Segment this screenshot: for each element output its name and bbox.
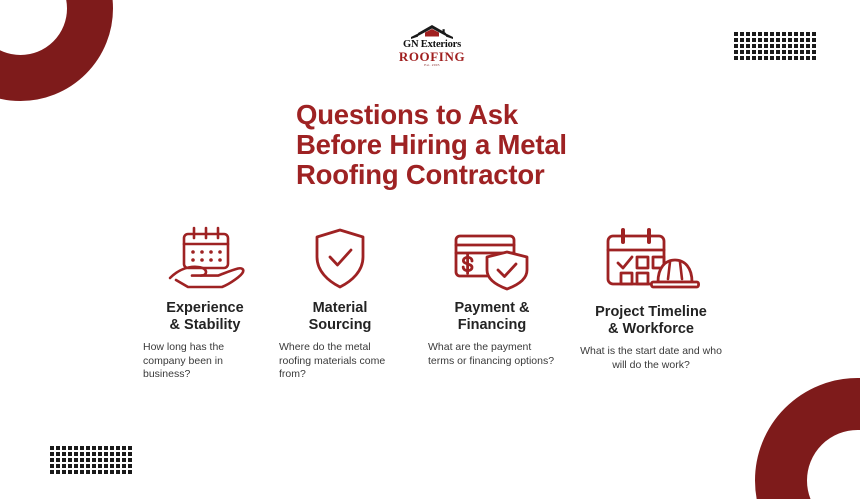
dot [68, 446, 72, 450]
dot [80, 446, 84, 450]
dot [788, 50, 792, 54]
dot [86, 446, 90, 450]
dot [800, 56, 804, 60]
icon-container [578, 220, 724, 292]
dot [788, 32, 792, 36]
dot-grid-bottom-left [50, 446, 132, 474]
dot [752, 50, 756, 54]
dot [56, 452, 60, 456]
dot [812, 44, 816, 48]
dot [128, 464, 132, 468]
dot [86, 470, 90, 474]
dot [98, 464, 102, 468]
calendar-hardhat-icon [601, 226, 701, 292]
dot [806, 56, 810, 60]
dot [98, 470, 102, 474]
dot [56, 458, 60, 462]
column-heading: Project Timeline & Workforce [578, 304, 724, 338]
dot [794, 50, 798, 54]
dot [800, 32, 804, 36]
column-body-text: Where do the metal roofing materials com… [279, 341, 401, 382]
dot [128, 452, 132, 456]
dot [740, 32, 744, 36]
dot [62, 452, 66, 456]
column-heading: Material Sourcing [279, 300, 401, 334]
icon-container [143, 220, 267, 292]
dot [740, 38, 744, 42]
dot [764, 56, 768, 60]
dot [92, 470, 96, 474]
dot [122, 452, 126, 456]
dot [746, 50, 750, 54]
dot [806, 50, 810, 54]
feature-column-experience: Experience & Stability How long has the … [143, 220, 267, 382]
dot [80, 458, 84, 462]
dot [800, 44, 804, 48]
dot [812, 32, 816, 36]
house-roof-icon [401, 24, 463, 40]
dot [758, 38, 762, 42]
dot [50, 452, 54, 456]
dot [782, 50, 786, 54]
column-body-text: What is the start date and who will do t… [578, 345, 724, 372]
column-heading: Experience & Stability [143, 300, 267, 334]
ring-bottom-right-decoration [755, 378, 860, 499]
dot [110, 464, 114, 468]
dot [92, 452, 96, 456]
dot [734, 38, 738, 42]
dot [116, 446, 120, 450]
dot [770, 50, 774, 54]
ring-top-left-decoration [0, 0, 113, 101]
heading-line-2: & Workforce [608, 321, 694, 337]
dot [98, 452, 102, 456]
dot [776, 44, 780, 48]
dot [50, 458, 54, 462]
dot-grid-top-right [734, 32, 816, 60]
dot [776, 56, 780, 60]
dot [740, 56, 744, 60]
dot [122, 464, 126, 468]
dot [116, 470, 120, 474]
icon-container [279, 220, 401, 292]
dot [758, 44, 762, 48]
calendar-in-hand-icon [156, 226, 254, 292]
dot [92, 464, 96, 468]
feature-column-timeline: Project Timeline & Workforce What is the… [578, 220, 724, 372]
dot [746, 38, 750, 42]
dot [812, 38, 816, 42]
dot [764, 32, 768, 36]
column-heading: Payment & Financing [428, 300, 556, 334]
dot [782, 38, 786, 42]
dot [770, 38, 774, 42]
dot [800, 50, 804, 54]
dot [50, 446, 54, 450]
dot [62, 464, 66, 468]
dot [758, 56, 762, 60]
dot [110, 458, 114, 462]
dot [758, 32, 762, 36]
title-line-2: Before Hiring a Metal [296, 130, 626, 160]
dot [734, 56, 738, 60]
dot [806, 32, 810, 36]
feature-column-material: Material Sourcing Where do the metal roo… [279, 220, 401, 382]
heading-line-2: & Stability [170, 317, 241, 333]
dot [68, 464, 72, 468]
credit-card-shield-icon [450, 230, 534, 292]
dot [128, 446, 132, 450]
dot [74, 470, 78, 474]
dot [740, 50, 744, 54]
dot [62, 446, 66, 450]
logo-service-word: ROOFING [393, 50, 471, 63]
dot [746, 56, 750, 60]
dot [86, 458, 90, 462]
dot [734, 50, 738, 54]
dot [86, 452, 90, 456]
dot [764, 44, 768, 48]
dot [68, 458, 72, 462]
feature-column-payment: Payment & Financing What are the payment… [428, 220, 556, 368]
dot [770, 32, 774, 36]
dot [764, 50, 768, 54]
dot [746, 44, 750, 48]
dot [740, 44, 744, 48]
dot [812, 56, 816, 60]
title-line-3: Roofing Contractor [296, 160, 626, 190]
dot [62, 458, 66, 462]
dot [752, 32, 756, 36]
dot [734, 32, 738, 36]
dot [80, 470, 84, 474]
dot [104, 452, 108, 456]
dot [752, 38, 756, 42]
dot [776, 32, 780, 36]
dot [62, 470, 66, 474]
dot [116, 464, 120, 468]
dot [734, 44, 738, 48]
dot [782, 44, 786, 48]
dot [56, 464, 60, 468]
title-line-1: Questions to Ask [296, 100, 626, 130]
dot [788, 38, 792, 42]
heading-line-1: Project Timeline [595, 304, 707, 320]
dot [122, 470, 126, 474]
column-body-text: How long has the company been in busines… [143, 341, 267, 382]
dot [806, 38, 810, 42]
dot [782, 56, 786, 60]
dot [128, 458, 132, 462]
dot [122, 458, 126, 462]
dot [794, 32, 798, 36]
dot [104, 458, 108, 462]
column-body-text: What are the payment terms or financing … [428, 341, 556, 368]
dot [770, 44, 774, 48]
dot [110, 452, 114, 456]
dot [50, 464, 54, 468]
dot [788, 44, 792, 48]
dot [746, 32, 750, 36]
dot [80, 464, 84, 468]
dot [68, 452, 72, 456]
dot [116, 452, 120, 456]
dot [104, 464, 108, 468]
infographic-canvas: GN Exteriors ROOFING Est. 2005 Questions… [0, 0, 860, 499]
dot [68, 470, 72, 474]
dot [92, 446, 96, 450]
dot [74, 458, 78, 462]
dot [98, 446, 102, 450]
heading-line-1: Experience [166, 300, 243, 316]
dot [794, 38, 798, 42]
dot [764, 38, 768, 42]
dot [92, 458, 96, 462]
dot [806, 44, 810, 48]
dot [776, 38, 780, 42]
dot [74, 446, 78, 450]
dot [116, 458, 120, 462]
dot [74, 464, 78, 468]
heading-line-1: Payment & [455, 300, 530, 316]
dot [128, 470, 132, 474]
heading-line-2: Sourcing [309, 317, 372, 333]
dot [56, 446, 60, 450]
dot [752, 44, 756, 48]
page-title: Questions to Ask Before Hiring a Metal R… [296, 100, 626, 190]
dot [752, 56, 756, 60]
dot [74, 452, 78, 456]
dot [86, 464, 90, 468]
dot [80, 452, 84, 456]
dot [788, 56, 792, 60]
dot [758, 50, 762, 54]
dot [800, 38, 804, 42]
dot [104, 446, 108, 450]
shield-check-icon [309, 226, 371, 292]
dot [110, 470, 114, 474]
icon-container [428, 220, 556, 292]
dot [110, 446, 114, 450]
dot [794, 56, 798, 60]
dot [770, 56, 774, 60]
dot [104, 470, 108, 474]
dot [50, 470, 54, 474]
heading-line-2: Financing [458, 317, 526, 333]
dot [782, 32, 786, 36]
dot [812, 50, 816, 54]
brand-logo: GN Exteriors ROOFING Est. 2005 [393, 24, 471, 68]
dot [776, 50, 780, 54]
dot [98, 458, 102, 462]
dot [56, 470, 60, 474]
dot [794, 44, 798, 48]
heading-line-1: Material [313, 300, 368, 316]
dot [122, 446, 126, 450]
